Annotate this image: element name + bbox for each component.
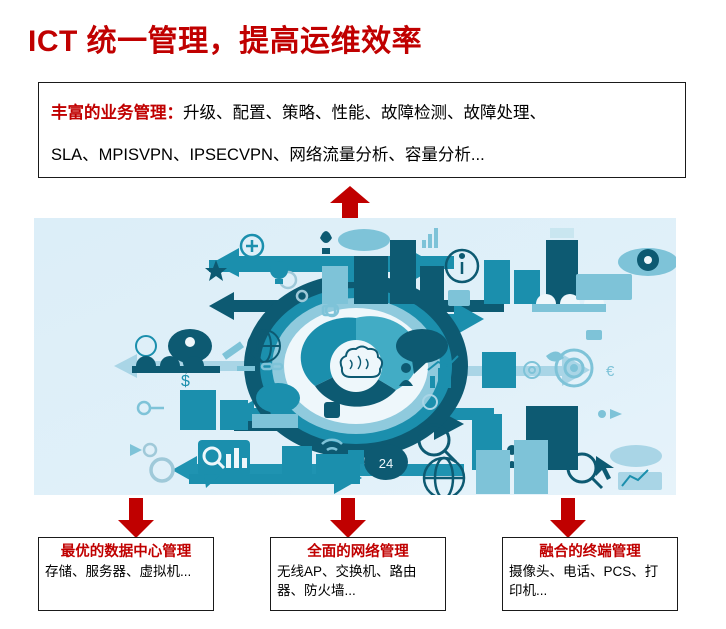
right-buildings-group-2 — [482, 352, 516, 388]
cloud-icon-right-2 — [610, 445, 662, 467]
bench-icon-left — [252, 414, 298, 428]
bubble-dot-icon — [185, 337, 195, 347]
red-up-arrow — [330, 186, 370, 218]
support-24h-badge-left: 24 — [364, 444, 408, 480]
illustration-svg: $ — [34, 218, 676, 495]
feature-line-1: 丰富的业务管理：升级、配置、策略、性能、故障检测、故障处理、 — [51, 99, 546, 123]
card-icon-right — [586, 330, 602, 340]
svg-text:$: $ — [181, 373, 190, 390]
callout-box-network: 全面的网络管理 无线AP、交换机、路由器、防火墙... — [270, 537, 446, 611]
ict-network-hub-illustration: $ — [34, 218, 676, 495]
feature-summary-box: 丰富的业务管理：升级、配置、策略、性能、故障检测、故障处理、 SLA、MPISV… — [38, 82, 686, 178]
cloud-icon-top — [338, 229, 390, 251]
callout-box-datacenter: 最优的数据中心管理 存储、服务器、虚拟机... — [38, 537, 214, 611]
callout-box-terminal: 融合的终端管理 摄像头、电话、PCS、打印机... — [502, 537, 678, 611]
page-title: ICT 统一管理，提高运维效率 — [28, 16, 422, 60]
red-down-arrow-left — [118, 498, 154, 538]
feature-label: 丰富的业务管理： — [51, 104, 183, 122]
callout-title-datacenter: 最优的数据中心管理 — [45, 542, 207, 562]
red-down-arrow-mid — [330, 498, 366, 538]
document-icon-right — [448, 290, 470, 306]
callout-desc-terminal: 摄像头、电话、PCS、打印机... — [509, 562, 671, 600]
dollar-icon-left: $ — [181, 373, 190, 390]
euro-icon-right: € — [606, 363, 615, 380]
puzzle-icon-left — [324, 402, 340, 418]
callout-desc-datacenter: 存储、服务器、虚拟机... — [45, 562, 207, 581]
badge-24-label: 24 — [379, 456, 393, 471]
callout-title-terminal: 融合的终端管理 — [509, 542, 671, 562]
feature-line-1-text: 升级、配置、策略、性能、故障检测、故障处理、 — [183, 104, 546, 122]
red-down-arrow-right — [550, 498, 586, 538]
callout-desc-network: 无线AP、交换机、路由器、防火墙... — [277, 562, 439, 600]
callout-title-network: 全面的网络管理 — [277, 542, 439, 562]
server-rack-icon-right — [576, 274, 632, 300]
cloud-eye-icon-right — [618, 248, 676, 276]
left-buildings-light-1 — [322, 266, 348, 304]
trend-card-icon-right — [618, 470, 662, 490]
feature-line-2: SLA、MPISVPN、IPSECVPN、网络流量分析、容量分析... — [51, 141, 485, 165]
